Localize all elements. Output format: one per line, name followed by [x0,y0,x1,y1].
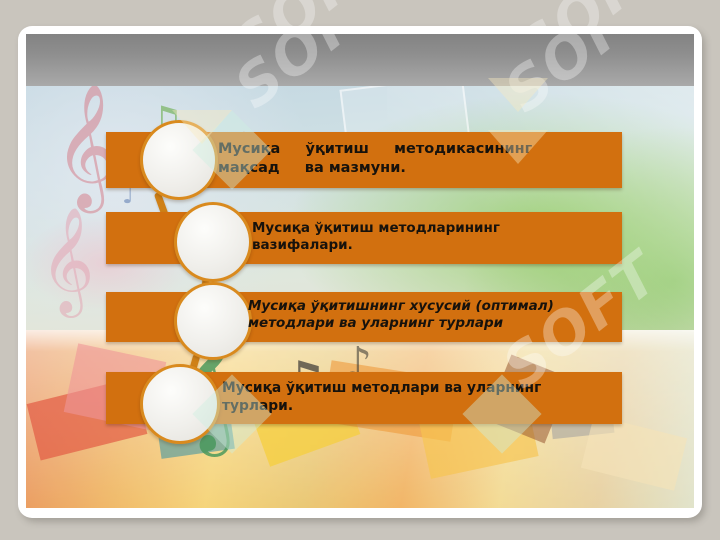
agenda-item-3-text: Мусиқа ўқитишнинг хусусий (оптимал) мето… [248,298,620,333]
slide-canvas: 𝄞 𝄞 ♫ ♪ ♩ 𝄞 ♫ ♪ [26,34,694,508]
agenda-item-4-node[interactable] [140,364,220,444]
agenda-list: Мусиқа ўқитиш методикасининг мақсад ва м… [26,86,694,508]
agenda-item-1-node[interactable] [140,120,218,200]
agenda-item-4-text: Мусиқа ўқитиш методлари ва уларнинг турл… [222,380,614,415]
agenda-item-1-text: Мусиқа ўқитиш методикасининг мақсад ва м… [218,140,614,177]
agenda-item-2-text: Мусиқа ўқитиш методларининг вазифалари. [252,220,612,255]
slide-frame: 𝄞 𝄞 ♫ ♪ ♩ 𝄞 ♫ ♪ [18,26,702,518]
agenda-item-2-node[interactable] [174,202,252,282]
agenda-item-3-node[interactable] [174,282,252,360]
slide-header-bar [26,34,694,86]
